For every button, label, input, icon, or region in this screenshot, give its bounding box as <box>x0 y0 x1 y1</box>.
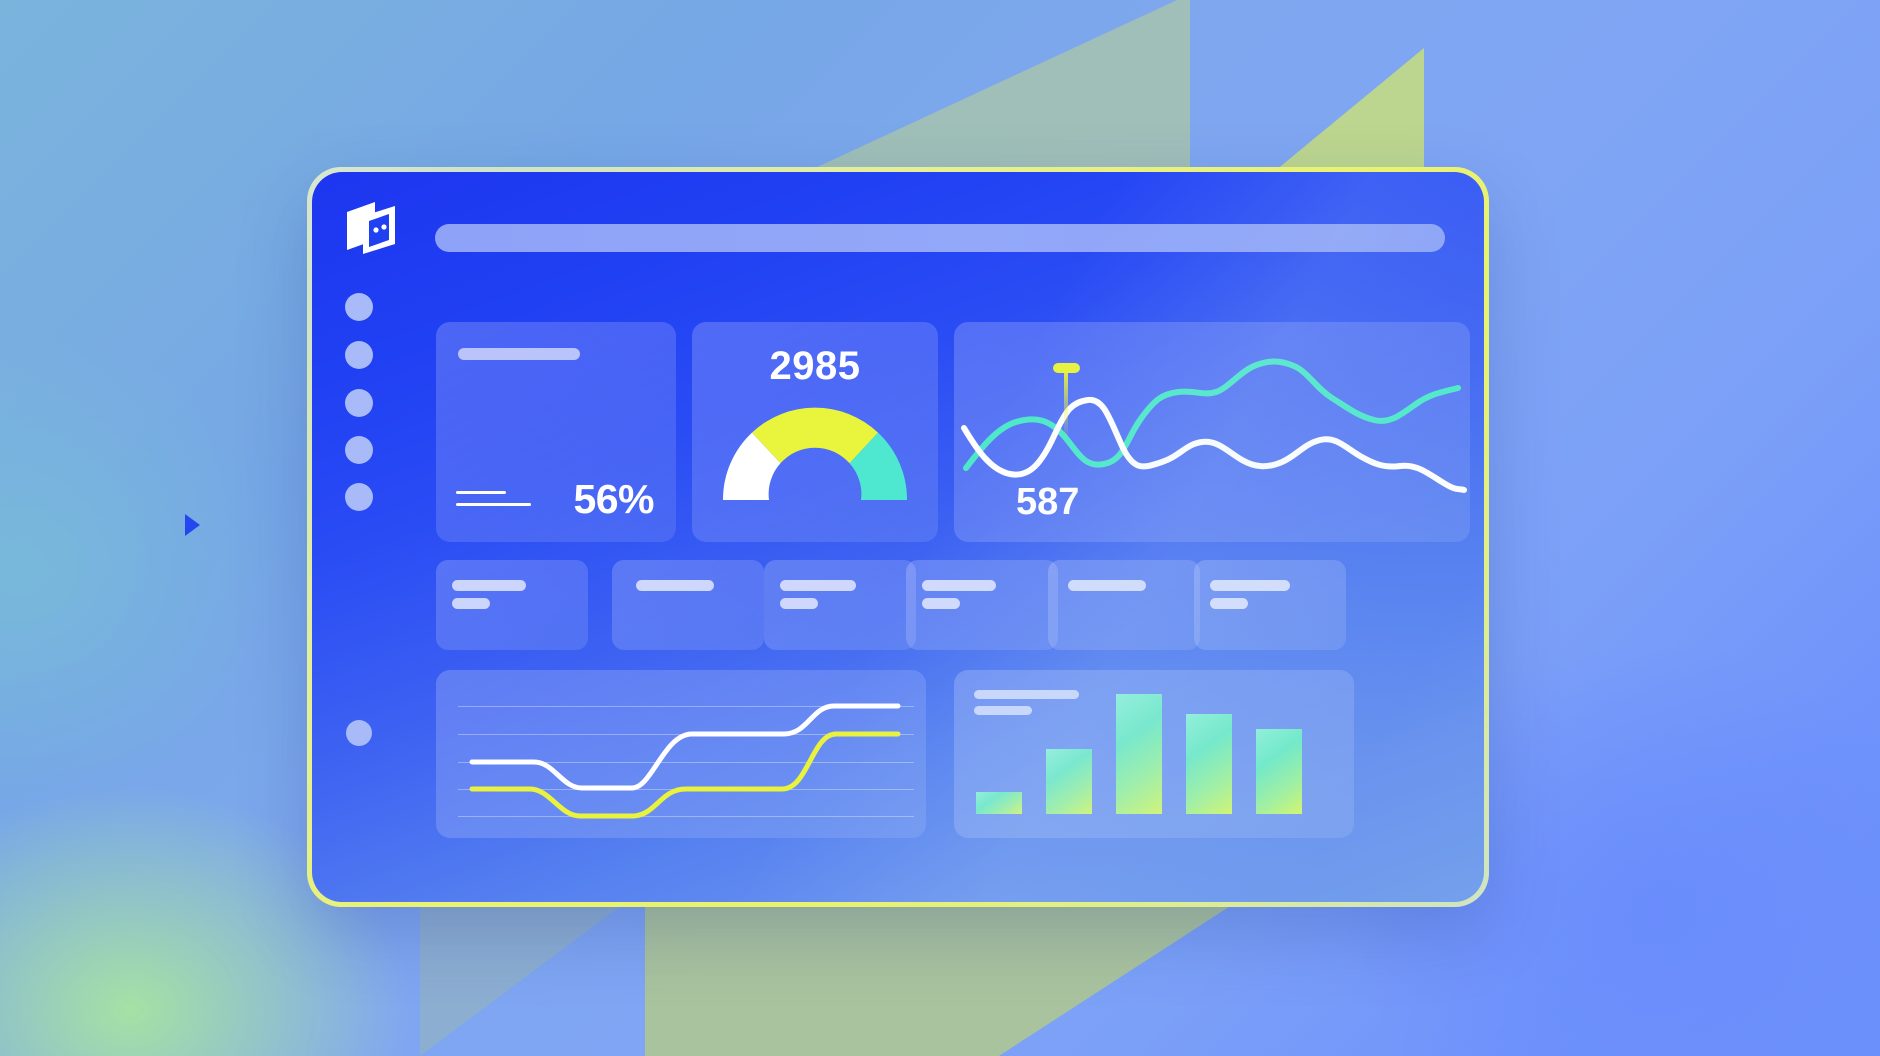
step-series-yellow <box>472 734 898 816</box>
mini-card-subtitle <box>780 598 818 609</box>
sidebar-item-5[interactable] <box>345 483 373 511</box>
illustration-canvas: 56% 2985 <box>0 0 1880 1056</box>
bar-2 <box>1046 749 1092 814</box>
gauge-value: 2985 <box>692 344 938 389</box>
app-window: 56% 2985 <box>307 167 1489 907</box>
percent-card[interactable]: 56% <box>436 322 676 542</box>
mini-card-2[interactable] <box>612 560 764 650</box>
wave-series-mint <box>966 362 1458 469</box>
mini-card-title <box>1068 580 1146 591</box>
search-input[interactable] <box>435 224 1445 252</box>
wave-value: 587 <box>1016 481 1079 524</box>
app-logo-icon <box>345 200 403 256</box>
step-series-white <box>472 706 898 788</box>
bar-3 <box>1116 694 1162 814</box>
slate-blue-triangle <box>420 890 642 1056</box>
sidebar-nav <box>312 302 412 902</box>
wave-series-white <box>964 400 1464 490</box>
bar-4 <box>1186 714 1232 814</box>
mini-card-subtitle <box>922 598 960 609</box>
percent-sparkline-upper <box>456 491 506 494</box>
bar-1 <box>976 792 1022 814</box>
mini-card-4[interactable] <box>906 560 1058 650</box>
mini-card-title <box>922 580 996 591</box>
mini-card-title <box>1210 580 1290 591</box>
sidebar-item-bottom[interactable] <box>346 720 372 746</box>
wave-marker-stem <box>1064 368 1068 440</box>
olive-polygon <box>645 890 1255 1056</box>
bar-5 <box>1256 729 1302 814</box>
bar-chart-subtitle <box>974 706 1032 715</box>
gauge-donut-chart <box>717 402 913 502</box>
bar-chart-card[interactable] <box>954 670 1354 838</box>
mini-card-subtitle <box>1210 598 1248 609</box>
bar-chart-title <box>974 690 1079 699</box>
mini-card-6[interactable] <box>1194 560 1346 650</box>
percent-value: 56% <box>573 479 654 520</box>
mini-card-3[interactable] <box>764 560 916 650</box>
step-line-chart <box>436 670 926 838</box>
mini-card-title <box>780 580 856 591</box>
wave-marker-cap <box>1053 363 1080 373</box>
percent-sparkline-lower <box>456 503 531 506</box>
dashboard-content: 56% 2985 <box>412 302 1484 902</box>
mini-card-title <box>636 580 714 591</box>
wave-card[interactable]: 587 <box>954 322 1470 542</box>
app-window-inner: 56% 2985 <box>312 172 1484 902</box>
mini-card-title <box>452 580 526 591</box>
step-chart-card[interactable] <box>436 670 926 838</box>
sidebar-item-2[interactable] <box>345 341 373 369</box>
sidebar-item-3[interactable] <box>345 389 373 417</box>
app-header <box>312 172 1484 302</box>
gauge-card[interactable]: 2985 <box>692 322 938 542</box>
mini-card-1[interactable] <box>436 560 588 650</box>
percent-card-title <box>458 348 580 360</box>
sidebar-item-1[interactable] <box>345 293 373 321</box>
sidebar-item-4[interactable] <box>345 436 373 464</box>
mini-card-5[interactable] <box>1048 560 1200 650</box>
mini-card-subtitle <box>452 598 490 609</box>
play-cursor-icon <box>185 514 200 536</box>
